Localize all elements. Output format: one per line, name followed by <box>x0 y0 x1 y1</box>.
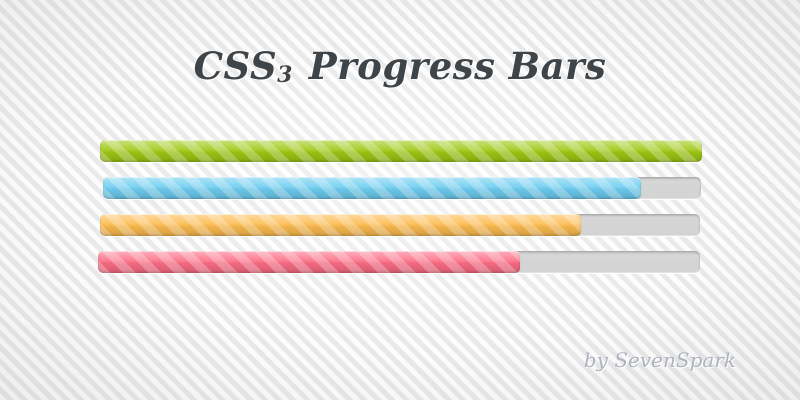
progress-bar-row-pink <box>0 251 800 273</box>
progress-bar-row-orange <box>0 214 800 236</box>
progress-track-blue[interactable] <box>103 177 701 199</box>
page-title-prefix: CSS <box>194 44 278 88</box>
progress-bar-row-blue <box>0 177 800 199</box>
progress-track-green[interactable] <box>100 140 702 162</box>
page-title: CSS3 Progress Bars <box>0 44 800 88</box>
page-title-superscript: 3 <box>277 62 295 88</box>
progress-track-pink[interactable] <box>98 251 700 273</box>
page-title-suffix: Progress Bars <box>295 44 606 88</box>
progress-track-orange[interactable] <box>100 214 700 236</box>
progress-fill-orange <box>100 214 581 236</box>
credit-text: by SevenSpark <box>584 348 736 372</box>
progress-bars-showcase: CSS3 Progress Bars by SevenSpark <box>0 0 800 400</box>
progress-fill-blue <box>103 177 641 199</box>
progress-fill-green <box>100 140 702 162</box>
progress-fill-pink <box>98 251 520 273</box>
progress-bar-row-green <box>0 140 800 162</box>
progress-bar-list <box>0 140 800 288</box>
